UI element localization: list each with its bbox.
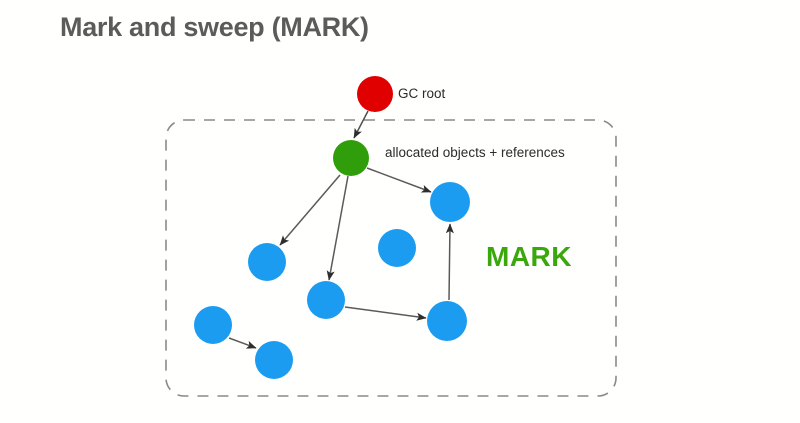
object-node-center[interactable] bbox=[378, 229, 416, 267]
diagram-canvas bbox=[0, 0, 800, 423]
mark-phase-label: MARK bbox=[486, 241, 572, 273]
edge-bluebr-to-bluetr bbox=[449, 224, 450, 300]
mark-phase-diagram: GC root allocated objects + references M… bbox=[0, 0, 800, 423]
slide-canvas: Mark and sweep (MARK) bbox=[0, 0, 800, 423]
gc-root-label: GC root bbox=[398, 86, 445, 101]
edge-bluebl-to-blueb bbox=[229, 338, 256, 348]
root-object-node[interactable] bbox=[333, 140, 369, 176]
object-node-bottom-left[interactable] bbox=[194, 306, 232, 344]
edge-green-to-bluetr bbox=[367, 168, 431, 192]
edge-green-to-bluemc bbox=[329, 176, 348, 280]
object-node-bottom[interactable] bbox=[255, 341, 293, 379]
node-group bbox=[194, 76, 470, 379]
edge-gcroot-to-green bbox=[354, 111, 368, 138]
allocated-objects-label: allocated objects + references bbox=[385, 145, 565, 160]
object-node-bottom-right[interactable] bbox=[427, 301, 467, 341]
edge-bluemc-to-bluebr bbox=[345, 307, 426, 318]
gc-root-node[interactable] bbox=[357, 76, 393, 112]
edge-green-to-blueml bbox=[280, 175, 340, 245]
object-node-mid-center[interactable] bbox=[307, 281, 345, 319]
object-node-mid-left[interactable] bbox=[248, 243, 286, 281]
object-node-top-right[interactable] bbox=[430, 182, 470, 222]
